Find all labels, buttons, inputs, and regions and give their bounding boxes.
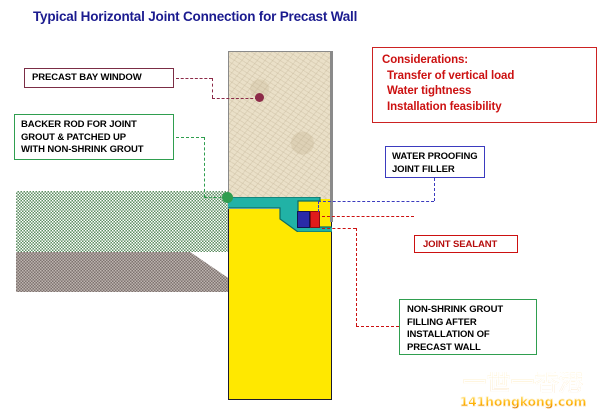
considerations-heading: Considerations: xyxy=(382,53,596,69)
leader-joint-sealant-h1 xyxy=(322,216,414,217)
callout-non-shrink-grout-line-1: NON-SHRINK GROUT xyxy=(407,304,536,317)
callout-non-shrink-grout[interactable]: NON-SHRINK GROUT FILLING AFTER INSTALLAT… xyxy=(399,299,537,355)
callout-precast-bay-window[interactable]: PRECAST BAY WINDOW xyxy=(24,68,174,88)
watermark: 一世一香港 141hongkong.com xyxy=(452,372,594,410)
leader-waterproofing-v1 xyxy=(434,178,435,201)
callout-water-proofing-line-2: JOINT FILLER xyxy=(392,164,484,177)
diagram-canvas: Typical Horizontal Joint Connection for … xyxy=(0,0,600,412)
upper-slab-hatch xyxy=(16,191,228,252)
leader-precast-bay-window-v1 xyxy=(212,78,213,98)
callout-precast-bay-window-line-1: PRECAST BAY WINDOW xyxy=(32,72,173,85)
leader-grout-h2 xyxy=(356,326,399,327)
considerations-item-1: Transfer of vertical load xyxy=(382,69,596,85)
considerations-box: Considerations: Transfer of vertical loa… xyxy=(372,47,597,123)
considerations-item-2: Water tightness xyxy=(382,84,596,100)
joint-filler-block xyxy=(297,211,310,228)
leader-precast-bay-window-h2 xyxy=(212,98,258,99)
leader-grout-v1 xyxy=(356,228,357,326)
callout-backer-rod-line-2: GROUT & PATCHED UP xyxy=(21,132,173,145)
lower-slab-hatch xyxy=(16,252,228,292)
watermark-chinese-text: 一世一香港 xyxy=(452,372,594,395)
considerations-item-3: Installation feasibility xyxy=(382,100,596,116)
callout-backer-rod[interactable]: BACKER ROD FOR JOINT GROUT & PATCHED UP … xyxy=(14,114,174,160)
watermark-domain-text: 141hongkong.com xyxy=(452,396,594,409)
joint-sealant-block xyxy=(310,211,320,228)
callout-backer-rod-line-3: WITH NON-SHRINK GROUT xyxy=(21,144,173,157)
callout-joint-sealant[interactable]: JOINT SEALANT xyxy=(414,235,518,253)
callout-backer-rod-line-1: BACKER ROD FOR JOINT xyxy=(21,119,173,132)
callout-non-shrink-grout-line-2: FILLING AFTER xyxy=(407,317,536,330)
leader-waterproofing-v2 xyxy=(318,201,319,212)
callout-water-proofing-line-1: WATER PROOFING xyxy=(392,151,484,164)
leader-grout-h1 xyxy=(322,228,356,229)
leader-backer-rod-v1 xyxy=(204,137,205,197)
callout-joint-sealant-line-1: JOINT SEALANT xyxy=(423,239,517,252)
leader-backer-rod-dot xyxy=(222,192,233,203)
leader-precast-bay-window-h1 xyxy=(176,78,212,79)
callout-non-shrink-grout-line-3: INSTALLATION OF xyxy=(407,329,536,342)
leader-precast-bay-window-dot xyxy=(255,93,264,102)
wall-face-line xyxy=(330,51,333,222)
callout-water-proofing-joint-filler[interactable]: WATER PROOFING JOINT FILLER xyxy=(385,146,485,178)
leader-backer-rod-h1 xyxy=(176,137,204,138)
leader-waterproofing-h1 xyxy=(318,201,434,202)
precast-bay-window-block xyxy=(228,51,332,200)
callout-non-shrink-grout-line-4: PRECAST WALL xyxy=(407,342,536,355)
page-title: Typical Horizontal Joint Connection for … xyxy=(33,9,357,24)
